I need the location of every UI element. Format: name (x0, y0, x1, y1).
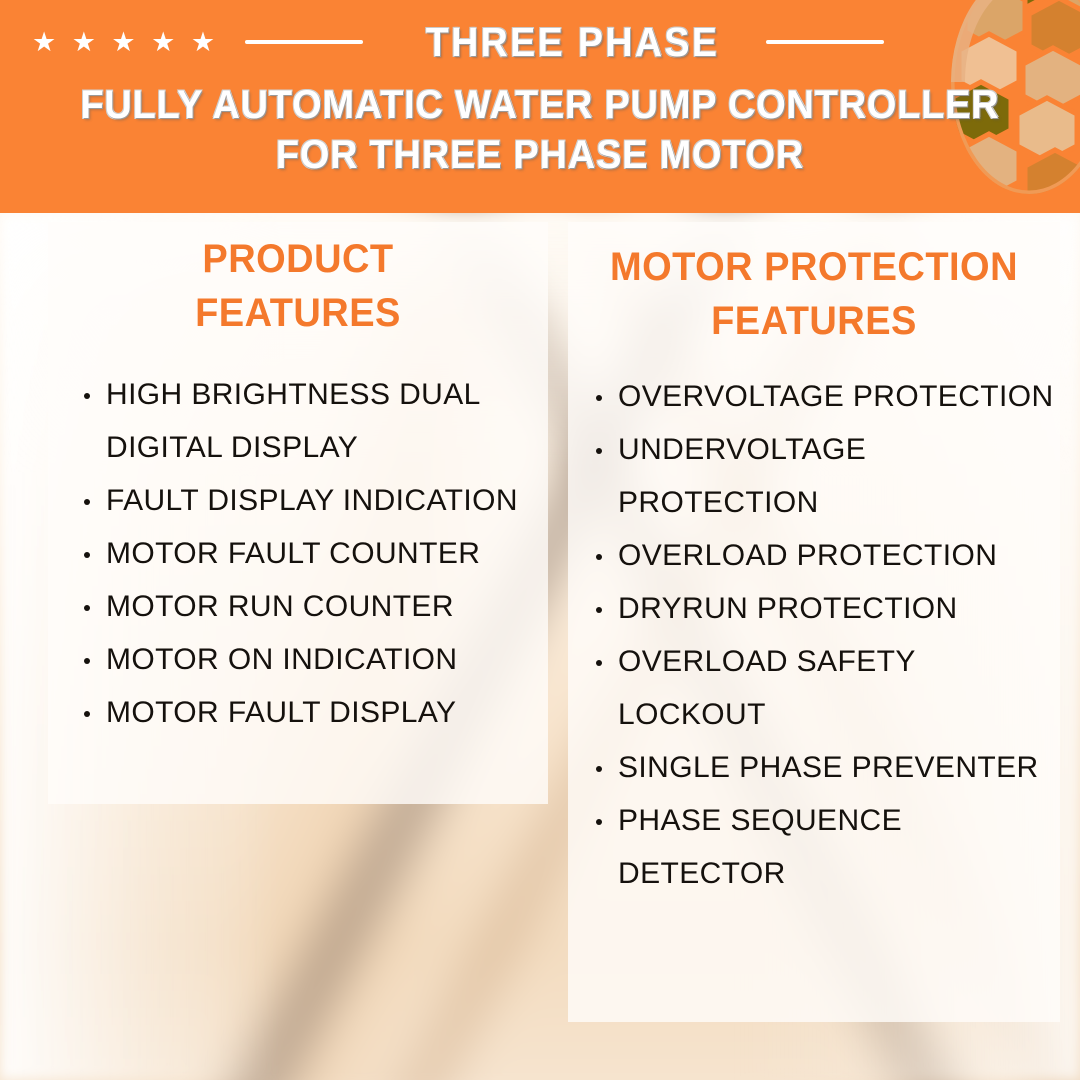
header-banner: ★ ★ ★ ★ ★ THREE PHASE FULLY AUTOMATIC WA… (0, 0, 1080, 213)
header-rule-right (766, 40, 884, 44)
poster-canvas: ★ ★ ★ ★ ★ THREE PHASE FULLY AUTOMATIC WA… (0, 0, 1080, 1080)
header-rule-left (245, 40, 363, 44)
list-item: MOTOR FAULT COUNTER (78, 527, 548, 580)
panel-motor-protection-features: MOTOR PROTECTION FEATURES OVERVOLTAGE PR… (568, 222, 1060, 1022)
list-item: OVERLOAD SAFETY LOCKOUT (590, 635, 1060, 741)
list-motor-protection-features: OVERVOLTAGE PROTECTION UNDERVOLTAGE PROT… (568, 370, 1060, 900)
heading-line-1: MOTOR PROTECTION (580, 240, 1047, 294)
header-subtitle-line2: FOR THREE PHASE MOTOR (27, 130, 1053, 180)
panel-product-features: PRODUCT FEATURES HIGH BRIGHTNESS DUAL DI… (48, 222, 548, 804)
list-item: PHASE SEQUENCE DETECTOR (590, 794, 1060, 900)
list-item: MOTOR RUN COUNTER (78, 580, 548, 633)
list-item: OVERLOAD PROTECTION (590, 529, 1060, 582)
list-item: UNDERVOLTAGE PROTECTION (590, 423, 1060, 529)
header-title-row: ★ ★ ★ ★ ★ THREE PHASE (0, 16, 1080, 68)
heading-product-features: PRODUCT FEATURES (61, 222, 536, 340)
heading-motor-protection-features: MOTOR PROTECTION FEATURES (580, 222, 1047, 348)
header-subtitle: FULLY AUTOMATIC WATER PUMP CONTROLLER FO… (0, 80, 1080, 180)
heading-line-1: PRODUCT (61, 232, 536, 286)
list-item: OVERVOLTAGE PROTECTION (590, 370, 1060, 423)
heading-line-2: FEATURES (61, 286, 536, 340)
list-item: MOTOR ON INDICATION (78, 633, 548, 686)
list-item: FAULT DISPLAY INDICATION (78, 474, 548, 527)
list-item: HIGH BRIGHTNESS DUAL DIGITAL DISPLAY (78, 368, 548, 474)
list-item: DRYRUN PROTECTION (590, 582, 1060, 635)
five-star-rating-icon: ★ ★ ★ ★ ★ (32, 29, 219, 56)
heading-line-2: FEATURES (580, 294, 1047, 348)
list-product-features: HIGH BRIGHTNESS DUAL DIGITAL DISPLAY FAU… (48, 368, 548, 739)
header-kicker: THREE PHASE (426, 19, 720, 66)
list-item: MOTOR FAULT DISPLAY (78, 686, 548, 739)
header-subtitle-line1: FULLY AUTOMATIC WATER PUMP CONTROLLER (27, 80, 1053, 130)
list-item: SINGLE PHASE PREVENTER (590, 741, 1060, 794)
